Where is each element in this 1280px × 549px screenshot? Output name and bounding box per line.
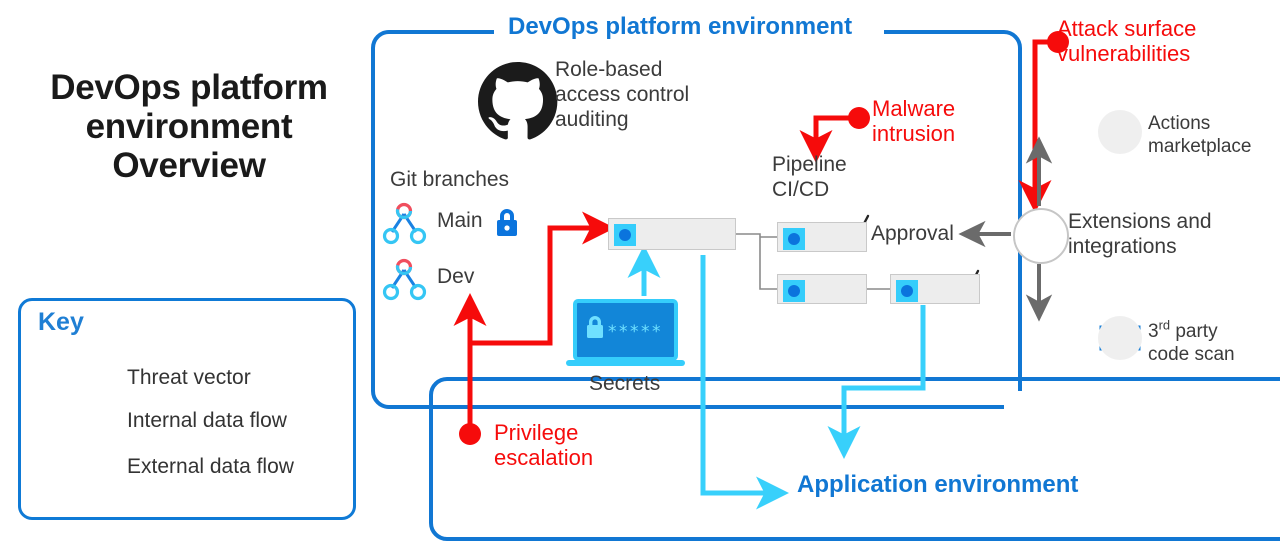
key-item-threat-vector: Threat vector bbox=[127, 366, 251, 390]
pipeline-task-box[interactable] bbox=[777, 222, 867, 252]
task-status-dot-icon bbox=[783, 228, 805, 250]
pipeline-task-box[interactable] bbox=[608, 218, 736, 250]
threat-label-attack-surface: Attack surface vulnerabilities bbox=[1057, 16, 1196, 66]
third-party-scan-icon-circle bbox=[1098, 316, 1142, 360]
ordinal-suffix: rd bbox=[1159, 318, 1170, 333]
lock-icon bbox=[497, 209, 517, 236]
task-status-dot-icon bbox=[783, 280, 805, 302]
extensions-label: Extensions and integrations bbox=[1068, 209, 1212, 259]
git-branch-icon-main bbox=[385, 205, 425, 243]
github-octocat-icon bbox=[478, 62, 557, 139]
page-title: DevOps platform environment Overview bbox=[14, 68, 364, 186]
devops-container-label: DevOps platform environment bbox=[500, 14, 860, 41]
svg-text:*****: ***** bbox=[608, 322, 663, 342]
pipeline-task-box[interactable] bbox=[777, 274, 867, 304]
ordinal-number: 3 bbox=[1148, 321, 1159, 342]
diagram-canvas: ***** DevOps platform environme bbox=[0, 0, 1280, 549]
key-title: Key bbox=[38, 308, 84, 336]
git-branch-label-dev: Dev bbox=[437, 265, 474, 289]
task-status-dot-icon bbox=[896, 280, 918, 302]
actions-marketplace-icon-circle bbox=[1098, 110, 1142, 154]
laptop-secrets-icon: ***** bbox=[566, 301, 685, 366]
approval-label: Approval bbox=[871, 222, 954, 246]
pipeline-task-box[interactable] bbox=[890, 274, 980, 304]
git-branches-heading: Git branches bbox=[390, 168, 509, 192]
task-status-dot-icon bbox=[614, 224, 636, 246]
pipeline-label: Pipeline CI/CD bbox=[772, 152, 847, 202]
third-party-scan-label-line1: 3rd party bbox=[1148, 321, 1218, 342]
threat-arrow-malware-intrusion bbox=[816, 107, 870, 146]
party-word: party bbox=[1170, 321, 1218, 342]
git-branch-icon-dev bbox=[385, 261, 425, 299]
application-container-label: Application environment bbox=[797, 472, 1078, 499]
secrets-label: Secrets bbox=[589, 372, 660, 396]
third-party-scan-label: 3rd partycode scan bbox=[1148, 318, 1235, 367]
internal-flow-task-to-application bbox=[844, 305, 923, 442]
threat-label-privilege-escalation: Privilege escalation bbox=[494, 420, 593, 470]
actions-marketplace-label: Actions marketplace bbox=[1148, 113, 1252, 159]
internal-flow-pipeline-to-application bbox=[703, 255, 772, 493]
key-item-external-data-flow: External data flow bbox=[127, 455, 294, 479]
threat-label-malware-intrusion: Malware intrusion bbox=[872, 96, 955, 146]
key-item-internal-data-flow: Internal data flow bbox=[127, 409, 287, 433]
git-branch-label-main: Main bbox=[437, 209, 483, 233]
third-party-scan-label-line2: code scan bbox=[1148, 344, 1235, 365]
rbac-label: Role-based access control auditing bbox=[555, 57, 689, 133]
extensions-icon-circle bbox=[1013, 208, 1069, 264]
